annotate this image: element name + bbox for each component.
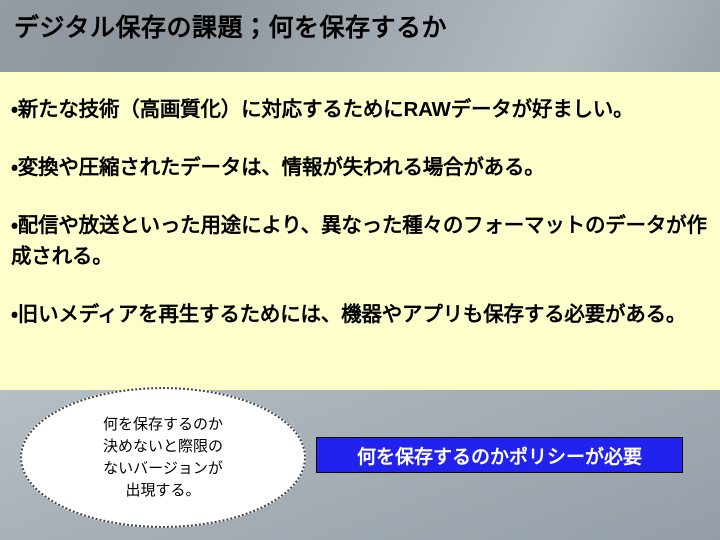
slide-title-band: デジタル保存の課題；何を保存するか xyxy=(0,0,720,72)
page-title: デジタル保存の課題；何を保存するか xyxy=(14,11,447,45)
slide-canvas: デジタル保存の課題；何を保存するか ・新たな技術（高画質化）に対応するためにRA… xyxy=(0,0,720,540)
oval-callout-text: 何を保存するのか 決めないと際限の ないバージョンが 出現する。 xyxy=(103,414,223,502)
bullet-item-1: ・新たな技術（高画質化）に対応するためにRAWデータが好ましい。 xyxy=(11,94,709,125)
bullet-item-2: ・変換や圧縮されたデータは、情報が失われる場合がある。 xyxy=(11,152,709,183)
bullet-item-3: ・配信や放送といった用途により、異なった種々のフォーマットのデータが作成される。 xyxy=(11,210,709,272)
oval-callout-shape: 何を保存するのか 決めないと際限の ないバージョンが 出現する。 xyxy=(20,387,306,528)
bullet-list: ・新たな技術（高画質化）に対応するためにRAWデータが好ましい。 ・変換や圧縮さ… xyxy=(11,94,709,330)
bullet-item-4: ・旧いメディアを再生するためには、機器やアプリも保存する必要がある。 xyxy=(11,299,709,330)
policy-banner: 何を保存するのかポリシーが必要 xyxy=(316,437,683,473)
policy-banner-text: 何を保存するのかポリシーが必要 xyxy=(357,442,642,469)
content-panel: ・新たな技術（高画質化）に対応するためにRAWデータが好ましい。 ・変換や圧縮さ… xyxy=(0,72,720,390)
